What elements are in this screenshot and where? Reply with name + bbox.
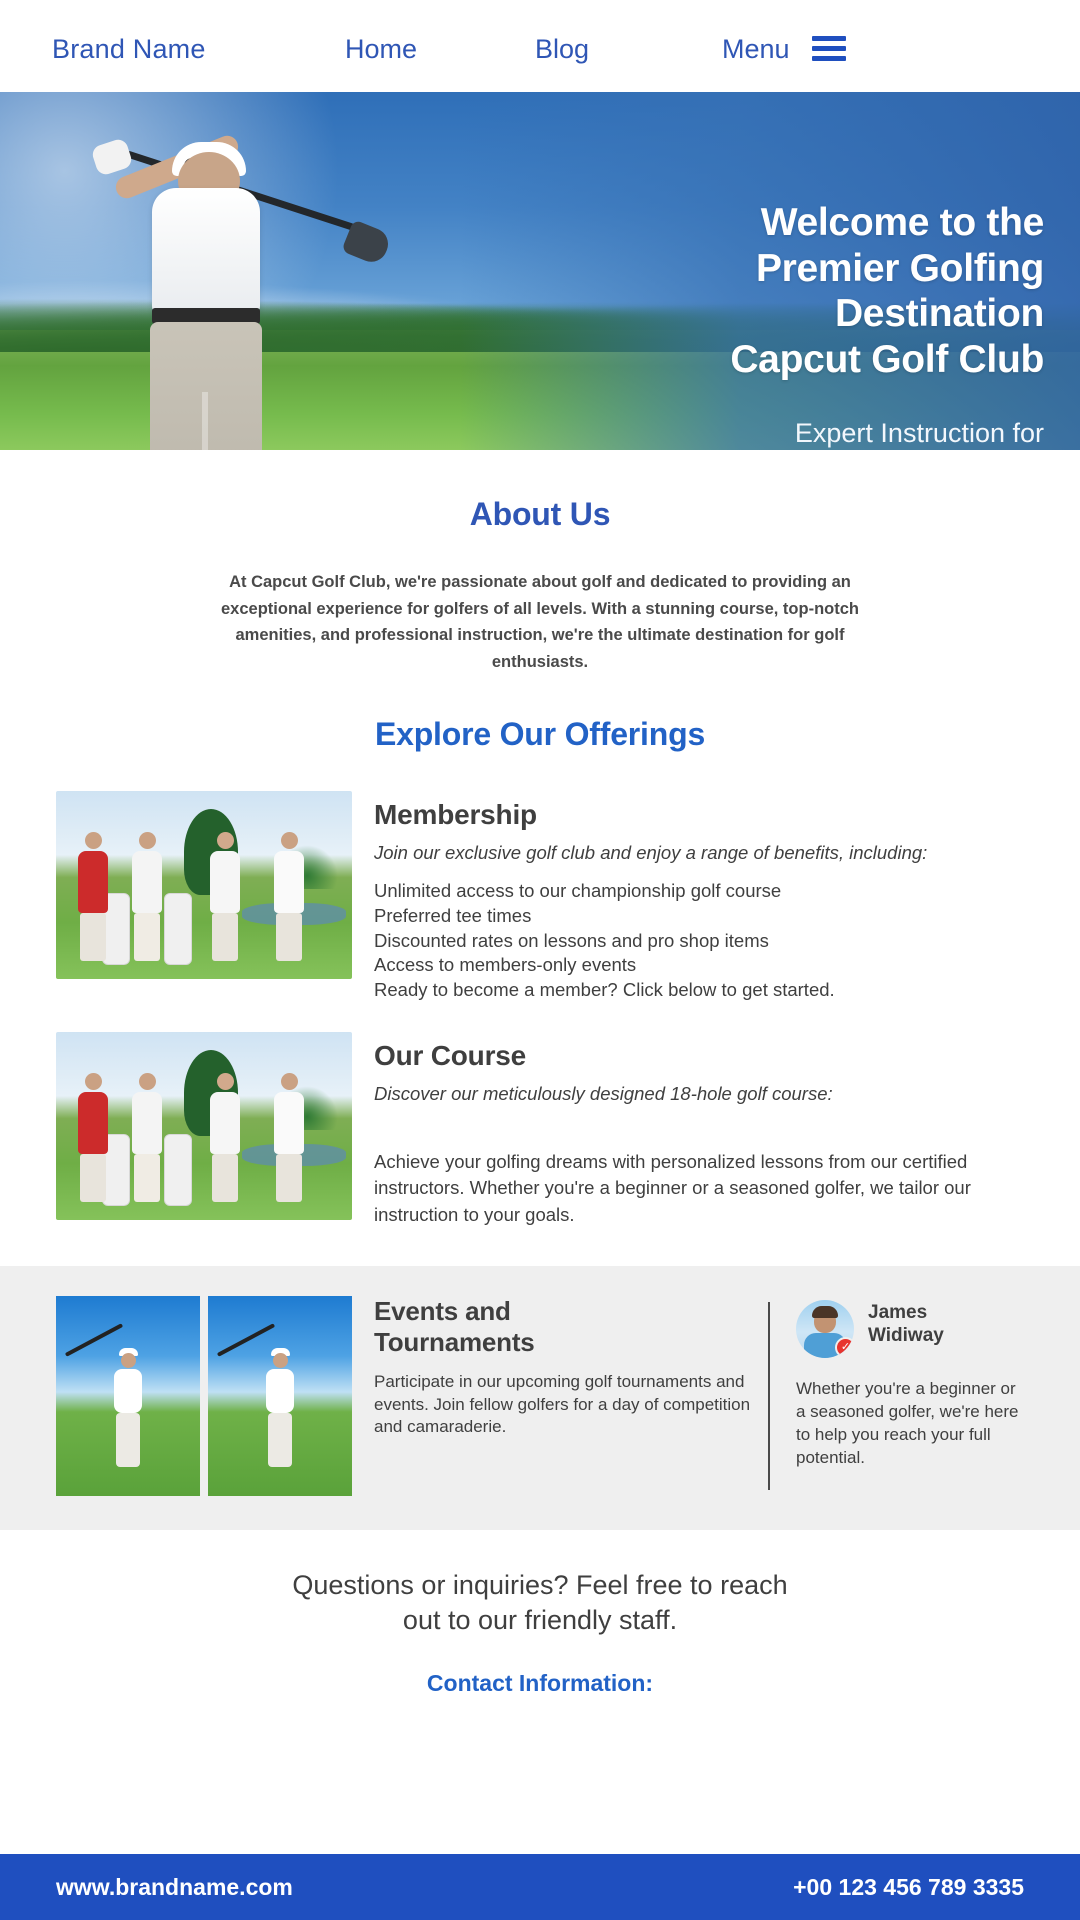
hamburger-menu-icon[interactable] xyxy=(812,36,846,61)
membership-benefit-list: Unlimited access to our championship gol… xyxy=(374,879,1024,1002)
course-heading: Our Course xyxy=(374,1040,1024,1072)
hero-text-block: Welcome to the Premier Golfing Destinati… xyxy=(524,200,1044,450)
explore-offerings-title: Explore Our Offerings xyxy=(0,716,1080,753)
avatar: ✓ xyxy=(796,1300,854,1358)
golfer-figure xyxy=(258,1348,302,1467)
event-photo-1 xyxy=(56,1296,200,1496)
hero-title: Welcome to the Premier Golfing Destinati… xyxy=(524,200,1044,383)
contact-section: Questions or inquiries? Feel free to rea… xyxy=(0,1530,1080,1697)
events-testimonial-band: Events and Tournaments Participate in ou… xyxy=(0,1266,1080,1530)
events-text-block: Events and Tournaments Participate in ou… xyxy=(352,1296,764,1439)
author-first-name: James xyxy=(868,1302,944,1325)
golfer-figure xyxy=(74,832,112,961)
contact-question-line-1: Questions or inquiries? Feel free to rea… xyxy=(0,1568,1080,1603)
golfer-figure xyxy=(106,1348,150,1467)
top-navigation-bar: Brand Name Home Blog Menu xyxy=(0,0,1080,92)
list-item: Access to members-only events xyxy=(374,953,1024,978)
list-item: Unlimited access to our championship gol… xyxy=(374,879,1024,904)
footer-bar: www.brandname.com +00 123 456 789 3335 xyxy=(0,1854,1080,1920)
golfer-figure xyxy=(128,832,166,961)
about-us-section: About Us At Capcut Golf Club, we're pass… xyxy=(0,450,1080,676)
membership-lead: Join our exclusive golf club and enjoy a… xyxy=(374,841,1024,866)
course-photo xyxy=(56,1032,352,1220)
footer-phone-number[interactable]: +00 123 456 789 3335 xyxy=(793,1874,1024,1901)
course-text-block: Our Course Discover our meticulously des… xyxy=(352,1032,1024,1227)
about-us-body: At Capcut Golf Club, we're passionate ab… xyxy=(220,569,860,676)
hero-golfer-photo xyxy=(60,110,360,450)
events-photo-group xyxy=(56,1296,352,1496)
golfer-figure xyxy=(74,1073,112,1202)
hamburger-bar xyxy=(812,36,846,41)
golfer-figure xyxy=(270,1073,308,1202)
events-paragraph: Participate in our upcoming golf tournam… xyxy=(374,1371,764,1439)
membership-heading: Membership xyxy=(374,799,1024,831)
contact-question: Questions or inquiries? Feel free to rea… xyxy=(0,1568,1080,1638)
course-lead: Discover our meticulously designed 18-ho… xyxy=(374,1082,1024,1107)
testimonial-author-name: James Widiway xyxy=(868,1300,944,1348)
golfer-figure xyxy=(206,1073,244,1202)
hero-subtitle: Expert Instruction for Golfers of All Le… xyxy=(524,417,1044,451)
offering-row-course: Our Course Discover our meticulously des… xyxy=(0,1032,1080,1227)
list-item: Preferred tee times xyxy=(374,904,1024,929)
hero-subtitle-line-1: Expert Instruction for xyxy=(524,417,1044,451)
landing-page: Brand Name Home Blog Menu W xyxy=(0,0,1080,1920)
contact-information-heading: Contact Information: xyxy=(0,1670,1080,1697)
hero-title-line-2: Premier Golfing xyxy=(524,246,1044,292)
golfer-shirt xyxy=(152,188,260,316)
golfer-figure xyxy=(128,1073,166,1202)
events-heading-line-1: Events and xyxy=(374,1296,764,1327)
golf-bag xyxy=(164,893,192,965)
brand-logo-text[interactable]: Brand Name xyxy=(52,34,206,65)
hamburger-bar xyxy=(812,46,846,51)
membership-photo xyxy=(56,791,352,979)
course-paragraph: Achieve your golfing dreams with persona… xyxy=(374,1149,1024,1228)
author-last-name: Widiway xyxy=(868,1325,944,1348)
nav-link-blog[interactable]: Blog xyxy=(535,34,589,65)
list-item: Discounted rates on lessons and pro shop… xyxy=(374,929,1024,954)
hero-title-line-3: Destination xyxy=(524,291,1044,337)
hero-banner: Welcome to the Premier Golfing Destinati… xyxy=(0,92,1080,450)
vertical-divider xyxy=(768,1302,770,1490)
events-heading: Events and Tournaments xyxy=(374,1296,764,1357)
golfer-figure xyxy=(206,832,244,961)
events-heading-line-2: Tournaments xyxy=(374,1327,764,1358)
footer-website-link[interactable]: www.brandname.com xyxy=(56,1874,293,1901)
nav-link-menu[interactable]: Menu xyxy=(722,34,790,65)
golfer-figure xyxy=(270,832,308,961)
golfer-trousers xyxy=(150,322,262,450)
event-photo-2 xyxy=(208,1296,352,1496)
verified-check-icon: ✓ xyxy=(835,1337,854,1358)
about-us-title: About Us xyxy=(0,496,1080,533)
nav-link-home[interactable]: Home xyxy=(345,34,417,65)
membership-text-block: Membership Join our exclusive golf club … xyxy=(352,791,1024,1003)
testimonial-block: ✓ James Widiway Whether you're a beginne… xyxy=(796,1296,1024,1470)
list-item: Ready to become a member? Click below to… xyxy=(374,978,1024,1003)
hero-title-line-4: Capcut Golf Club xyxy=(524,337,1044,383)
golf-bag xyxy=(164,1134,192,1206)
hamburger-bar xyxy=(812,56,846,61)
testimonial-quote: Whether you're a beginner or a seasoned … xyxy=(796,1378,1024,1470)
golf-glove xyxy=(90,137,134,177)
hero-title-line-1: Welcome to the xyxy=(524,200,1044,246)
testimonial-header: ✓ James Widiway xyxy=(796,1300,1024,1358)
offering-row-membership: Membership Join our exclusive golf club … xyxy=(0,791,1080,1003)
contact-question-line-2: out to our friendly staff. xyxy=(0,1603,1080,1638)
